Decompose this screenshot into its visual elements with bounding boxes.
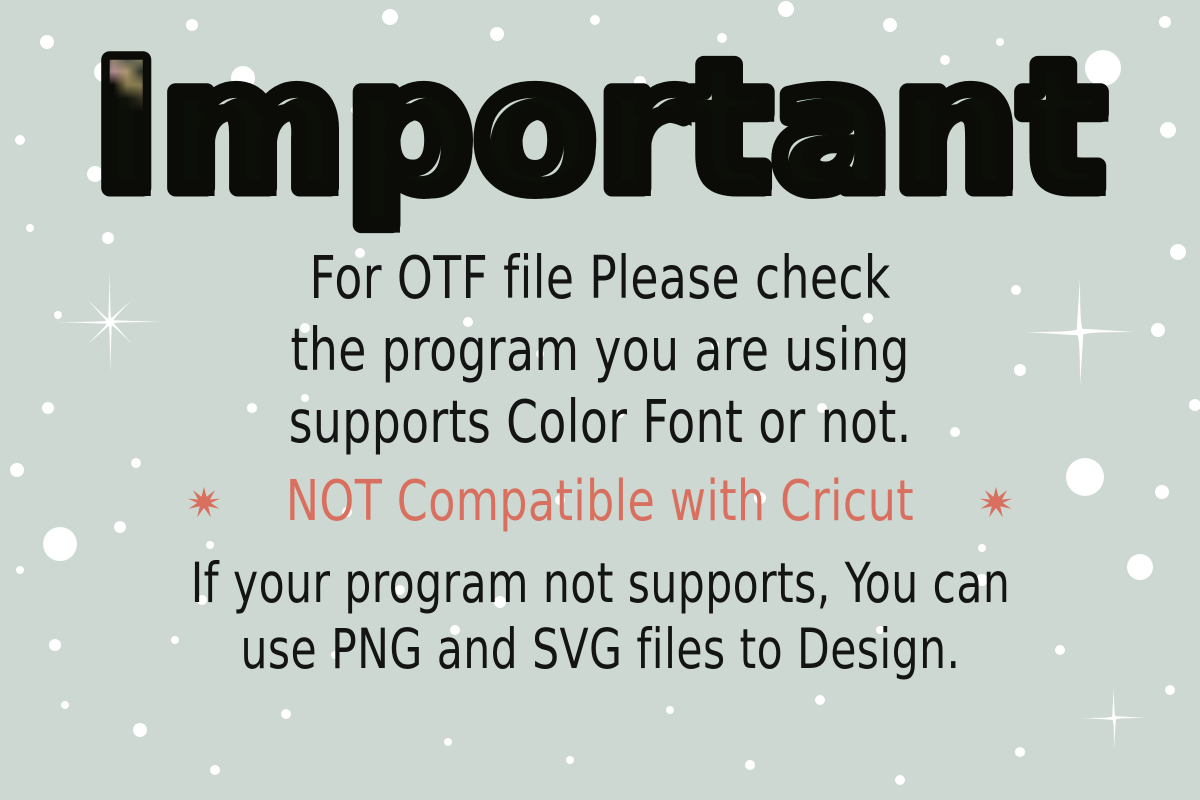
headline-fill: Important: [94, 25, 1107, 230]
poster-canvas: Important Important Important For OTF fi…: [0, 0, 1200, 800]
paragraph-main-line-1: For OTF file Please check: [289, 242, 912, 314]
paragraph-footer-line-1: If your program not supports, You can: [190, 550, 1010, 616]
paragraph-main: For OTF file Please check the program yo…: [238, 242, 962, 458]
asterisk-icon-left: [187, 485, 221, 519]
headline-block: Important Important Important: [100, 48, 1100, 228]
paragraph-main-line-3: supports Color Font or not.: [289, 386, 912, 458]
headline-artwork: Important Important Important: [100, 48, 1100, 228]
paragraph-main-line-2: the program you are using: [289, 314, 912, 386]
warning-text: NOT Compatible with Cricut: [286, 472, 914, 532]
warning-row: NOT Compatible with Cricut: [187, 472, 1013, 532]
paragraph-footer: If your program not supports, You can us…: [124, 550, 1077, 682]
paragraph-footer-line-2: use PNG and SVG files to Design.: [190, 616, 1010, 682]
asterisk-icon-right: [979, 485, 1013, 519]
